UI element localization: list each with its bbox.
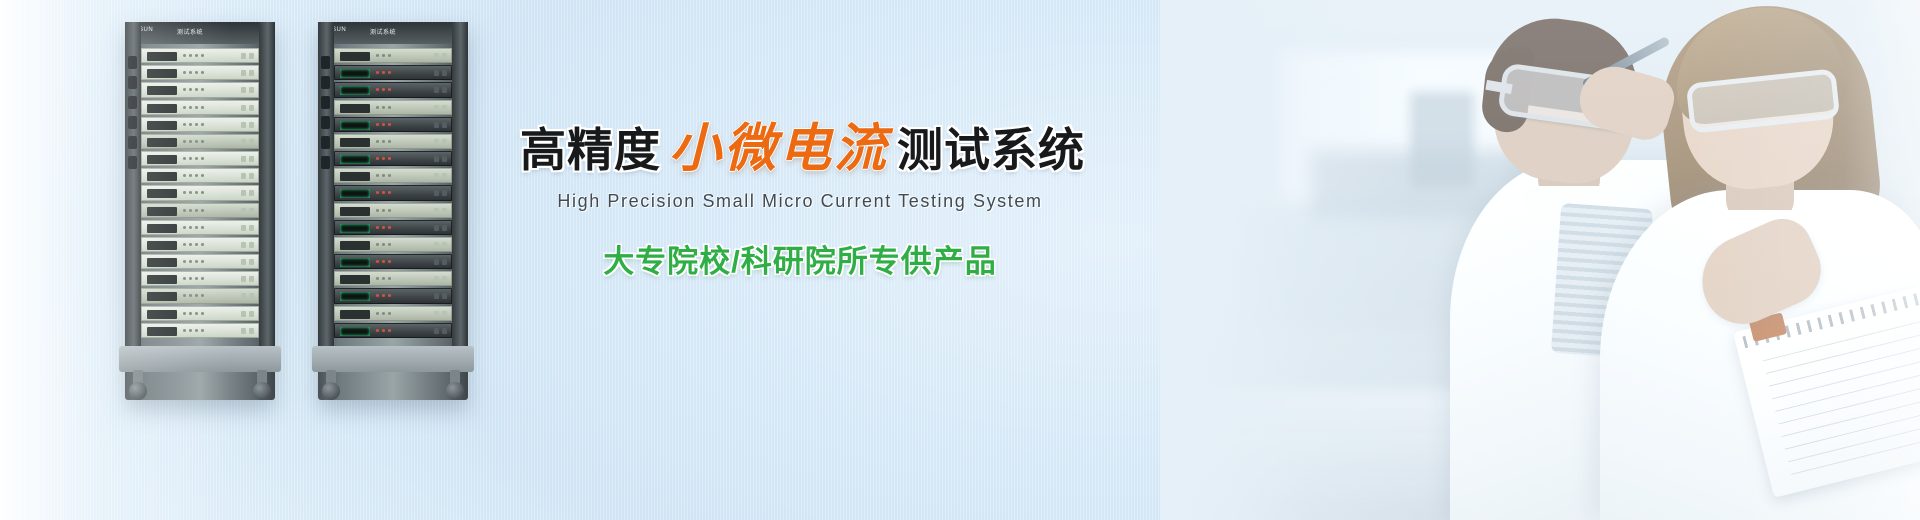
rack-unit [334, 323, 452, 338]
banner-copy: 高精度小微电流测试系统 High Precision Small Micro C… [520, 120, 1080, 281]
rack-model-label: 测试系统 [177, 27, 203, 36]
rack-unit [141, 82, 259, 97]
rack-unit [334, 185, 452, 200]
rack-unit [334, 220, 452, 235]
rack-base [312, 346, 474, 372]
rack-unit-bay [141, 48, 259, 338]
rack-unit [141, 168, 259, 183]
rack-rail-left [318, 22, 334, 348]
rack-unit [141, 185, 259, 200]
rack-unit [334, 271, 452, 286]
rack-unit [141, 323, 259, 338]
rack-unit [141, 151, 259, 166]
rack-unit [141, 237, 259, 252]
rack-unit-bay [334, 48, 452, 338]
product-banner: LISUN 测试系统 高精度小微电流测试系统 [0, 0, 1920, 520]
headline-highlight: 小微电流 [669, 118, 889, 179]
rack-unit [334, 134, 452, 149]
rack-unit [141, 134, 259, 149]
rack-unit [334, 203, 452, 218]
rack-unit [141, 306, 259, 321]
rack-rail-left [125, 22, 141, 348]
rack-unit [334, 151, 452, 166]
rack-unit [141, 220, 259, 235]
rack-unit [141, 100, 259, 115]
rack-caster [320, 370, 342, 400]
rack-unit [141, 288, 259, 303]
instrument-rack-right: LISUN 测试系统 高精度小微电流测试系统 [318, 22, 468, 400]
tagline: 大专院校/科研院所专供产品 [520, 236, 1080, 281]
page-title: 高精度小微电流测试系统 [520, 120, 1080, 177]
rack-caster [127, 370, 149, 400]
rack-unit [334, 100, 452, 115]
rack-unit [141, 203, 259, 218]
rack-base [119, 346, 281, 372]
rack-rail-right [452, 22, 468, 348]
rack-unit [334, 48, 452, 63]
subtitle-english: High Precision Small Micro Current Testi… [520, 191, 1080, 212]
lab-researchers-photo [1160, 0, 1920, 520]
rack-unit [334, 237, 452, 252]
rack-caster [251, 370, 273, 400]
rack-rail-right [259, 22, 275, 348]
rack-unit [334, 306, 452, 321]
rack-unit [141, 271, 259, 286]
rack-model-label: 测试系统 [370, 27, 396, 36]
photo-left-feather [1160, 0, 1920, 520]
headline-suffix: 测试系统 [897, 124, 1085, 176]
rack-unit [334, 117, 452, 132]
instrument-rack-left: LISUN 测试系统 高精度小微电流测试系统 [125, 22, 275, 400]
rack-unit [141, 65, 259, 80]
rack-unit [334, 168, 452, 183]
headline-prefix: 高精度 [520, 124, 661, 176]
rack-unit [141, 117, 259, 132]
rack-unit [334, 65, 452, 80]
rack-caster [444, 370, 466, 400]
rack-unit [334, 82, 452, 97]
rack-unit [141, 254, 259, 269]
rack-unit [141, 48, 259, 63]
rack-unit [334, 254, 452, 269]
rack-unit [334, 288, 452, 303]
